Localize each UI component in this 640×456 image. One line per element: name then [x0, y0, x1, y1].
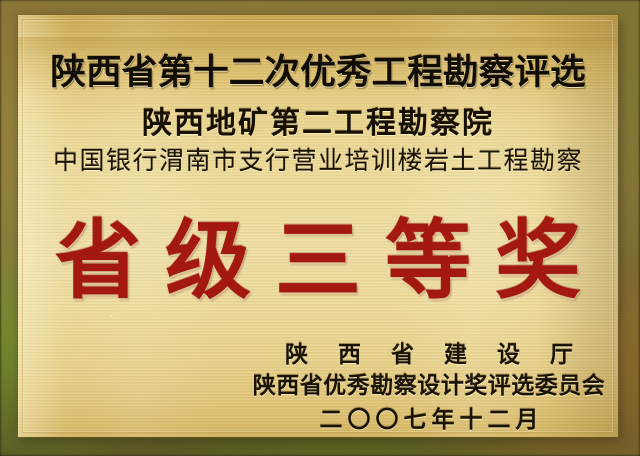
plaque-award-grade: 省级三等奖: [18, 211, 618, 311]
headline-engraved-band: [18, 37, 618, 97]
plaque-inset-frame: [22, 19, 614, 433]
brushed-metal-texture: [18, 15, 618, 437]
brass-plaque: 陕西省第十二次优秀工程勘察评选 陕西地矿第二工程勘察院 中国银行渭南市支行营业培…: [18, 15, 618, 437]
award-plaque-photo: 陕西省第十二次优秀工程勘察评选 陕西地矿第二工程勘察院 中国银行渭南市支行营业培…: [0, 0, 640, 456]
plaque-title: 陕西省第十二次优秀工程勘察评选: [18, 54, 618, 92]
plaque-review-committee: 陕西省优秀勘察设计奖评选委员会: [129, 373, 618, 400]
specular-fleck: [448, 255, 450, 257]
plaque-project-name: 中国银行渭南市支行营业培训楼岩土工程勘察: [18, 146, 618, 176]
metal-sheen-overlay: [18, 15, 618, 437]
specular-fleck: [558, 75, 560, 77]
plaque-issue-date: 二〇〇七年十二月: [129, 407, 618, 434]
plaque-issuing-authority: 陕西省建设厅: [129, 342, 618, 369]
specular-fleck: [110, 315, 112, 317]
plaque-organization: 陕西地矿第二工程勘察院: [18, 107, 618, 141]
